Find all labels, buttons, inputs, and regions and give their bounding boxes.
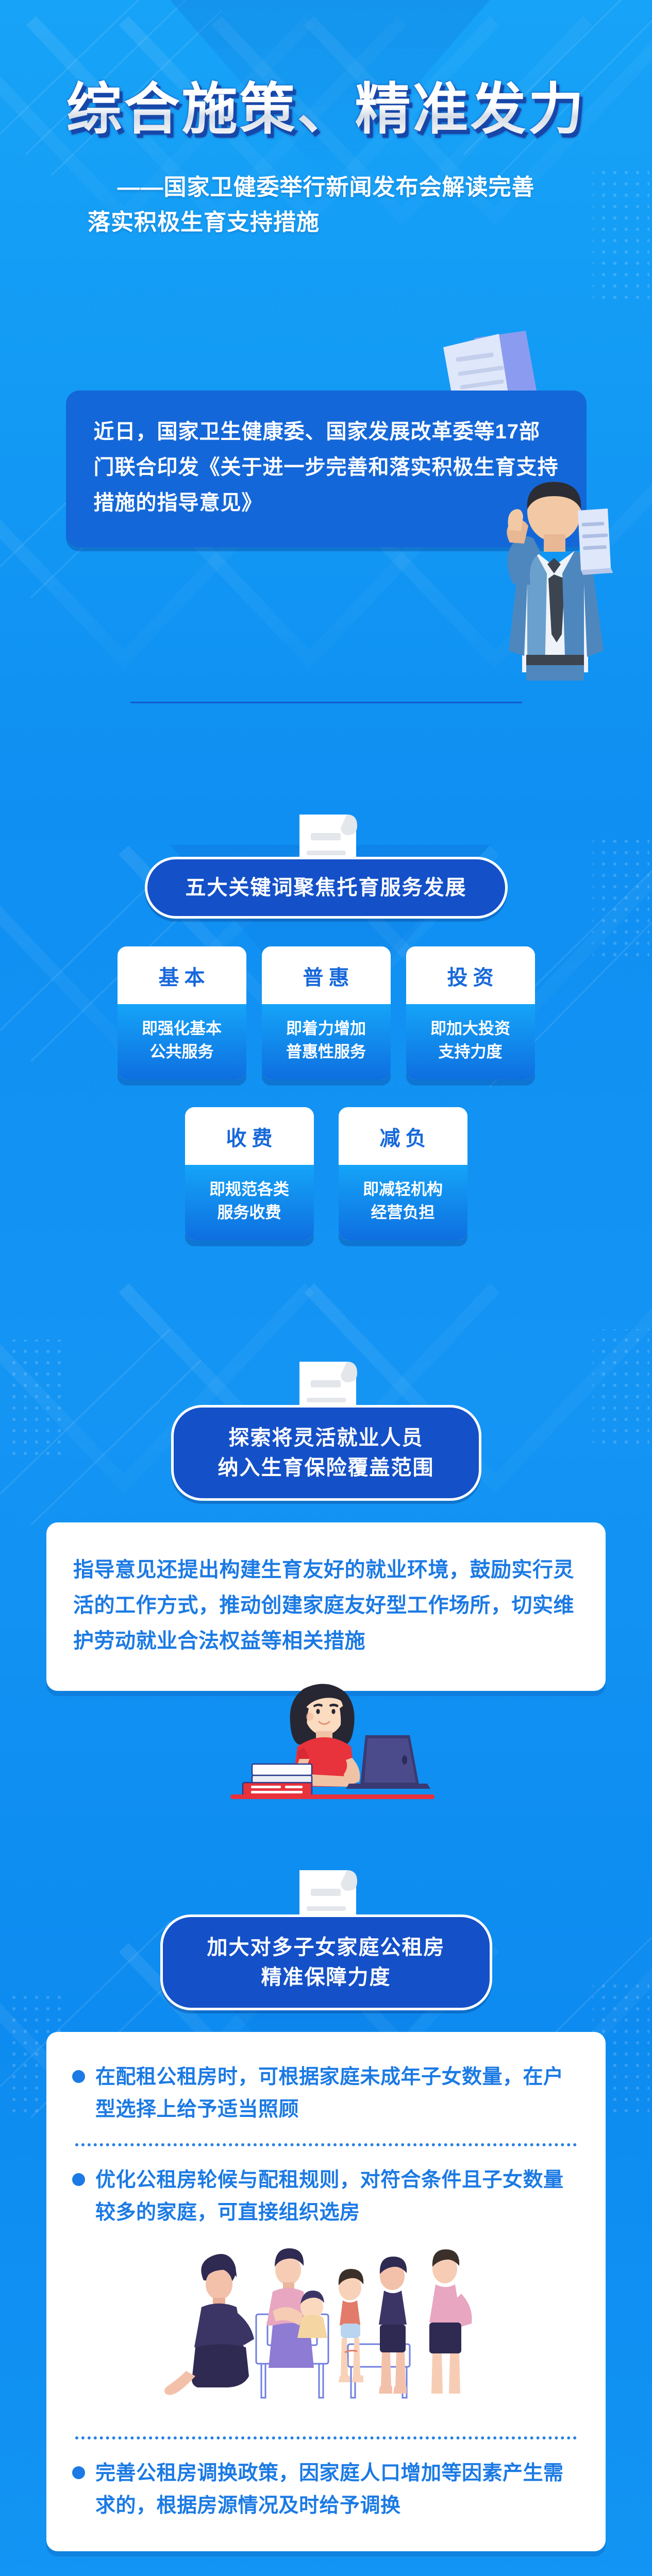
woman-at-laptop-icon — [213, 1682, 440, 1800]
bullet-dot-icon — [72, 2466, 85, 2479]
housing-section-heading: 加大对多子女家庭公租房 精准保障力度 — [160, 1914, 492, 2010]
keyword-cards-row-top: 基本 即强化基本 公共服务 普惠 即着力增加 普惠性服务 投资 即加大投资 支持… — [0, 946, 652, 1079]
page-subtitle: ——国家卫健委举行新闻发布会解读完善 落实积极生育支持措施 — [0, 170, 652, 240]
bullet-dot-icon — [72, 2173, 85, 2186]
presenter-man-icon — [477, 481, 647, 707]
insurance-body-panel: 指导意见还提出构建生育友好的就业环境，鼓励实行灵活的工作方式，推动创建家庭友好型… — [46, 1522, 606, 1690]
insurance-body-text: 指导意见还提出构建生育友好的就业环境，鼓励实行灵活的工作方式，推动创建家庭友好型… — [73, 1552, 579, 1658]
keyword-card-desc: 即强化基本 公共服务 — [118, 1004, 246, 1079]
housing-heading-line-1: 加大对多子女家庭公租房 — [207, 1936, 445, 1959]
list-item: 完善公租房调换政策，因家庭人口增加等因素产生需求的，根据房源情况及时给予调换 — [72, 2457, 580, 2522]
insurance-section-heading: 探索将灵活就业人员 纳入生育保险覆盖范围 — [171, 1405, 481, 1501]
keyword-card-title: 收费 — [185, 1107, 314, 1165]
keyword-card-desc: 即减轻机构 经营负担 — [339, 1165, 467, 1240]
insurance-heading-line-2: 纳入生育保险覆盖范围 — [218, 1456, 434, 1479]
dotted-divider — [75, 2143, 577, 2146]
keyword-card-title: 减负 — [339, 1107, 467, 1165]
bullet-text: 完善公租房调换政策，因家庭人口增加等因素产生需求的，根据房源情况及时给予调换 — [95, 2457, 580, 2522]
keywords-section-heading-wrap: 五大关键词聚焦托育服务发展 — [0, 857, 652, 919]
keyword-card-burden-relief[interactable]: 减负 即减轻机构 经营负担 — [339, 1107, 467, 1240]
family-group-icon — [146, 2246, 507, 2416]
bullet-text: 优化公租房轮候与配租规则，对符合条件且子女数量较多的家庭，可直接组织选房 — [95, 2164, 580, 2229]
bullet-text: 在配租公租房时，可根据家庭未成年子女数量，在户型选择上给予适当照顾 — [95, 2061, 580, 2126]
subtitle-line-2: 落实积极生育支持措施 — [49, 205, 603, 240]
housing-bullets-panel: 在配租公租房时，可根据家庭未成年子女数量，在户型选择上给予适当照顾 优化公租房轮… — [46, 2032, 606, 2551]
list-item: 优化公租房轮候与配租规则，对符合条件且子女数量较多的家庭，可直接组织选房 — [72, 2164, 580, 2229]
keyword-card-title: 普惠 — [262, 946, 391, 1004]
page-title: 综合施策、精准发力 — [66, 77, 586, 141]
subtitle-line-1: ——国家卫健委举行新闻发布会解读完善 — [49, 170, 603, 205]
keyword-card-desc: 即规范各类 服务收费 — [185, 1165, 314, 1240]
insurance-section-heading-wrap: 探索将灵活就业人员 纳入生育保险覆盖范围 — [0, 1405, 652, 1501]
keyword-card-investment[interactable]: 投资 即加大投资 支持力度 — [406, 946, 535, 1079]
bullet-dot-icon — [72, 2070, 85, 2083]
keyword-card-desc: 即加大投资 支持力度 — [406, 1004, 535, 1079]
keyword-card-inclusive[interactable]: 普惠 即着力增加 普惠性服务 — [262, 946, 391, 1079]
keyword-card-basic[interactable]: 基本 即强化基本 公共服务 — [118, 946, 246, 1079]
hero-section: 综合施策、精准发力 ——国家卫健委举行新闻发布会解读完善 落实积极生育支持措施 — [0, 0, 652, 361]
hero-divider-rule — [130, 702, 522, 703]
dotted-divider — [75, 2436, 577, 2439]
keyword-card-fees[interactable]: 收费 即规范各类 服务收费 — [185, 1107, 314, 1240]
keyword-card-desc: 即着力增加 普惠性服务 — [262, 1004, 391, 1079]
insurance-heading-line-1: 探索将灵活就业人员 — [229, 1427, 424, 1449]
list-item: 在配租公租房时，可根据家庭未成年子女数量，在户型选择上给予适当照顾 — [72, 2061, 580, 2126]
housing-heading-line-2: 精准保障力度 — [261, 1966, 391, 1989]
keyword-card-title: 投资 — [406, 946, 535, 1004]
housing-section-heading-wrap: 加大对多子女家庭公租房 精准保障力度 — [0, 1914, 652, 2010]
keyword-cards-row-bottom: 收费 即规范各类 服务收费 减负 即减轻机构 经营负担 — [0, 1107, 652, 1240]
keywords-section-heading: 五大关键词聚焦托育服务发展 — [145, 857, 508, 919]
keyword-card-title: 基本 — [118, 946, 246, 1004]
infographic-page: 综合施策、精准发力 ——国家卫健委举行新闻发布会解读完善 落实积极生育支持措施 … — [0, 0, 652, 2576]
